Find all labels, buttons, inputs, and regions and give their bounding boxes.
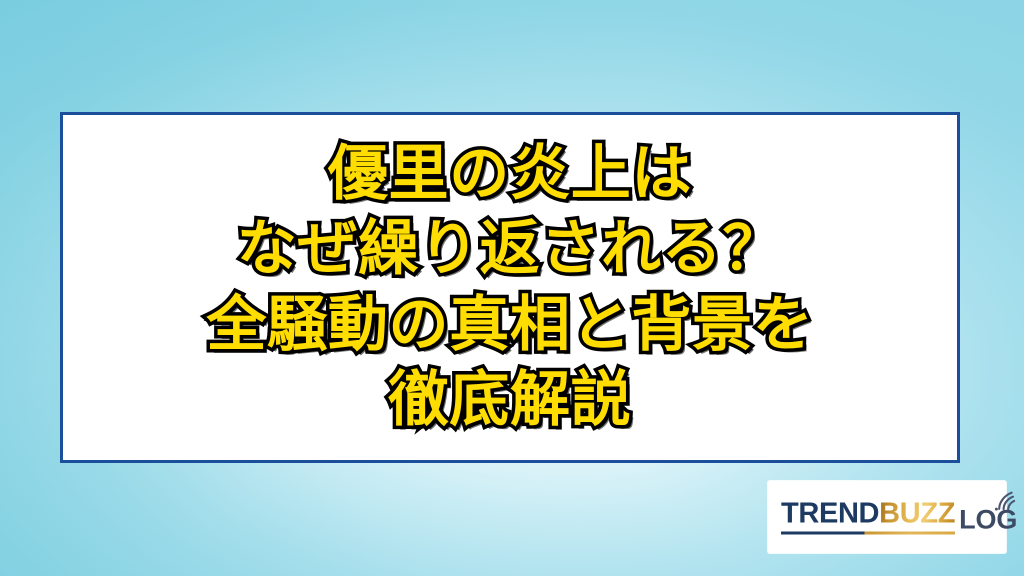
brand-underline-rule [781, 532, 955, 535]
thumbnail-canvas: 優里の炎上は なぜ繰り返される？ 全騒動の真相と背景を 徹底解説 TRENDBU… [0, 0, 1024, 576]
brand-logo-inner: TRENDBUZZ LOG [768, 500, 1006, 535]
signal-waves-icon [994, 490, 1020, 511]
brand-wordmark-text: TRENDBUZZ [781, 500, 955, 529]
brand-wordmark: TRENDBUZZ [781, 500, 955, 535]
title-line-3: 全騒動の真相と背景を [77, 288, 943, 364]
title-text-block: 優里の炎上は なぜ繰り返される？ 全騒動の真相と背景を 徹底解説 [63, 136, 957, 438]
brand-word-buzz: BUZZ [879, 498, 955, 530]
title-line-1: 優里の炎上は [77, 136, 943, 212]
brand-logo-row: TRENDBUZZ LOG [781, 500, 993, 535]
title-line-2: なぜ繰り返される？ [77, 212, 943, 288]
title-card: 優里の炎上は なぜ繰り返される？ 全騒動の真相と背景を 徹底解説 [60, 112, 960, 463]
brand-word-trend: TREND [781, 498, 879, 530]
title-line-4: 徹底解説 [77, 363, 943, 439]
brand-logo[interactable]: TRENDBUZZ LOG [768, 481, 1006, 553]
brand-log-wrap: LOG [959, 507, 1017, 535]
